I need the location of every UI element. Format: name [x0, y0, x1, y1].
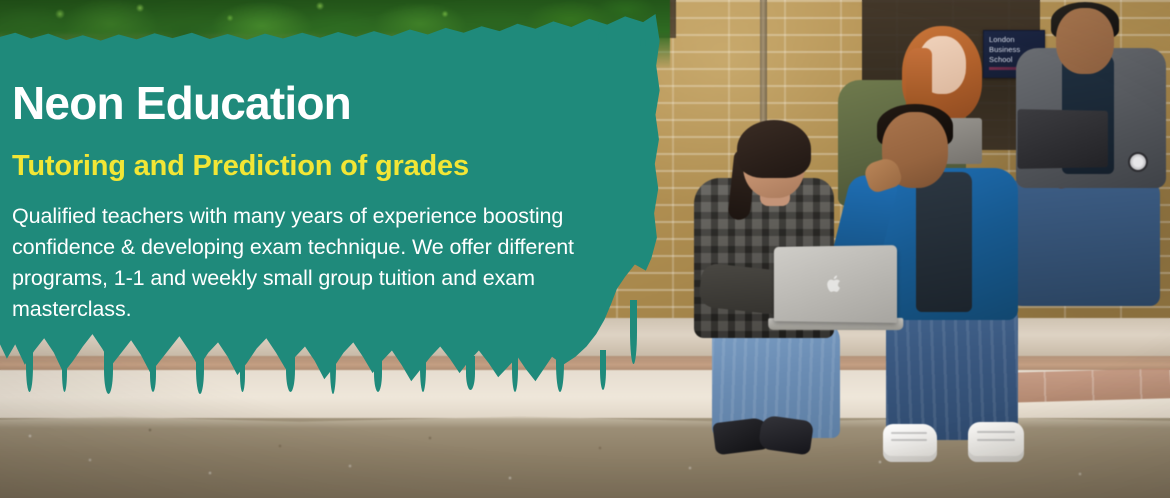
white-sneaker-right — [968, 422, 1024, 462]
paint-drip — [104, 346, 113, 394]
apple-logo-icon — [826, 274, 843, 294]
paint-drip — [630, 300, 637, 364]
sneaker-lace — [891, 439, 927, 441]
paint-drip — [600, 350, 606, 390]
paint-drip — [512, 346, 518, 392]
body-paragraph: Qualified teachers with many years of ex… — [12, 201, 592, 325]
paint-drip — [26, 340, 33, 392]
paint-drip — [420, 342, 426, 392]
dark-laptop — [1017, 109, 1107, 169]
paint-drip — [196, 344, 204, 394]
grey-blazer-legs — [1010, 178, 1160, 306]
paint-drip — [62, 352, 67, 392]
blue-blazer-legs — [886, 300, 1018, 440]
plaid-hair — [737, 120, 811, 178]
paint-drip — [330, 338, 336, 394]
wristwatch — [1128, 152, 1148, 172]
sneaker-lace — [891, 432, 927, 434]
hero-text-block: Neon Education Tutoring and Prediction o… — [12, 78, 612, 325]
paint-drip — [466, 356, 475, 390]
silver-macbook — [774, 245, 897, 323]
paint-drip — [556, 334, 564, 392]
paint-drip — [374, 354, 382, 392]
white-sneaker-left — [883, 424, 937, 462]
paint-fleck — [598, 30, 607, 52]
paint-drip — [150, 356, 156, 392]
blue-blazer-shirt — [916, 172, 972, 312]
paint-drip — [286, 348, 295, 392]
paint-drip — [240, 358, 245, 392]
black-boot-right — [758, 415, 814, 456]
sneaker-lace — [977, 431, 1015, 433]
hero-banner: London Business School — [0, 0, 1170, 498]
plaque-line-1: London — [989, 35, 1039, 45]
sneaker-lace — [977, 439, 1015, 441]
subheading: Tutoring and Prediction of grades — [12, 150, 612, 183]
paint-fleck — [640, 38, 646, 54]
grey-blazer-head — [1056, 8, 1114, 74]
page-title: Neon Education — [12, 78, 612, 128]
